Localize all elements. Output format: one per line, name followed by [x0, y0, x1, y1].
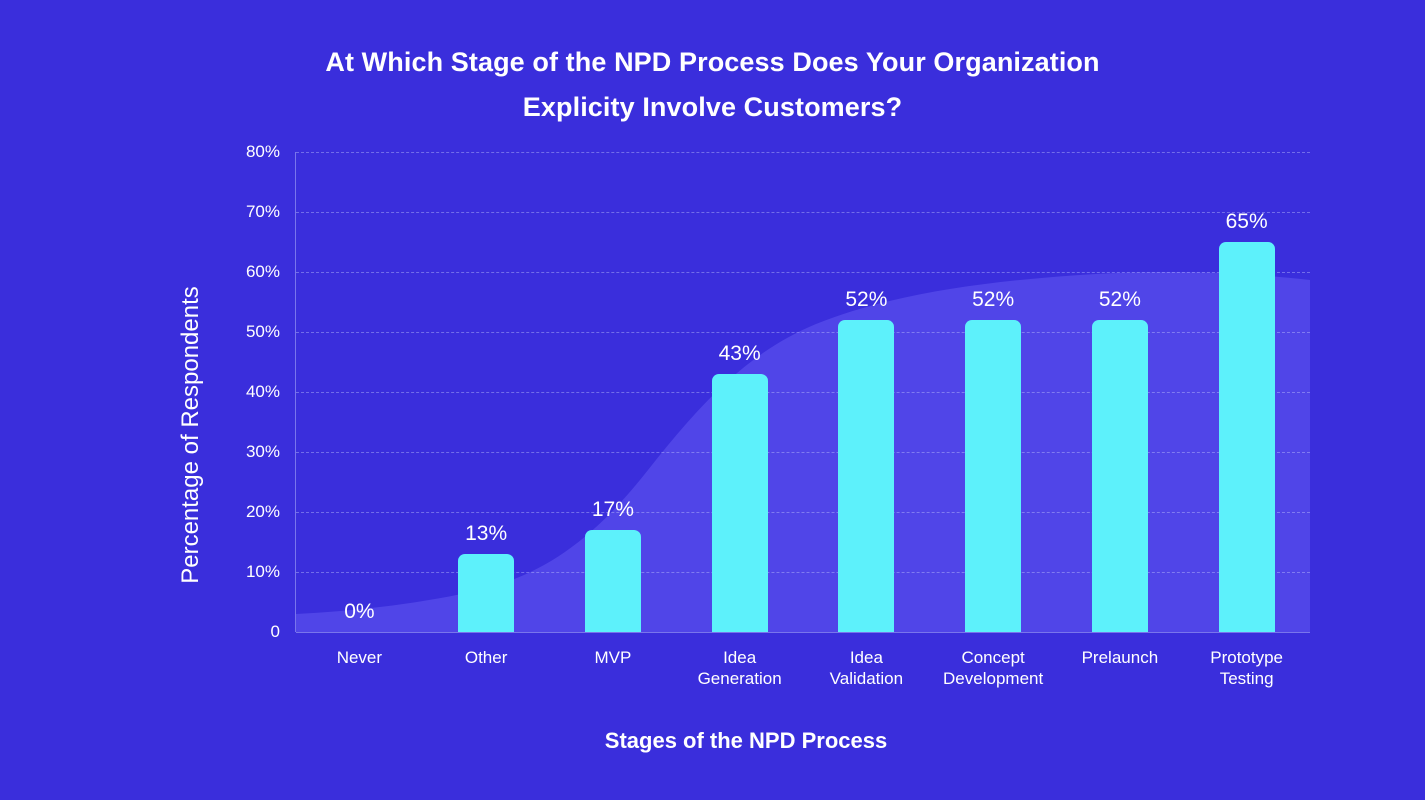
y-tick-label: 30%	[220, 442, 280, 462]
x-tick-label-line: Concept	[927, 647, 1059, 668]
bar-value-label: 13%	[423, 522, 550, 546]
bar-value-label: 65%	[1183, 210, 1310, 234]
x-tick-label-line: Other	[420, 647, 552, 668]
plot-area: 0%Never13%Other17%MVP43%IdeaGeneration52…	[296, 152, 1310, 632]
x-tick-label-line: Idea	[800, 647, 932, 668]
bar-value-label: 52%	[803, 288, 930, 312]
x-tick-label-line: Validation	[800, 668, 932, 689]
bar-slot[interactable]: 13%Other	[423, 152, 550, 632]
x-axis-title: Stages of the NPD Process	[470, 728, 1022, 754]
bar[interactable]	[458, 554, 514, 632]
bar-value-label: 17%	[550, 498, 677, 522]
x-tick-label: IdeaGeneration	[674, 647, 806, 689]
bar-value-label: 43%	[676, 342, 803, 366]
bar[interactable]	[712, 374, 768, 632]
y-tick-label: 70%	[220, 202, 280, 222]
chart-container: At Which Stage of the NPD Process Does Y…	[0, 0, 1425, 800]
bar[interactable]	[1092, 320, 1148, 632]
bar-slot[interactable]: 52%ConceptDevelopment	[930, 152, 1057, 632]
x-tick-label: PrototypeTesting	[1181, 647, 1313, 689]
bar[interactable]	[965, 320, 1021, 632]
x-tick-label-line: Generation	[674, 668, 806, 689]
bar-slot[interactable]: 52%IdeaValidation	[803, 152, 930, 632]
x-tick-label: Never	[293, 647, 425, 668]
bar[interactable]	[585, 530, 641, 632]
bar-slot[interactable]: 43%IdeaGeneration	[676, 152, 803, 632]
bar-slot[interactable]: 52%Prelaunch	[1057, 152, 1184, 632]
y-tick-label: 60%	[220, 262, 280, 282]
bar[interactable]	[1219, 242, 1275, 632]
x-tick-label-line: MVP	[547, 647, 679, 668]
bar-slot[interactable]: 65%PrototypeTesting	[1183, 152, 1310, 632]
x-tick-label-line: Prototype	[1181, 647, 1313, 668]
bar-slot[interactable]: 0%Never	[296, 152, 423, 632]
chart-title-line-2: Explicity Involve Customers?	[0, 85, 1425, 130]
chart-title-line-1: At Which Stage of the NPD Process Does Y…	[0, 40, 1425, 85]
y-tick-label: 40%	[220, 382, 280, 402]
bar-slot[interactable]: 17%MVP	[550, 152, 677, 632]
x-tick-label-line: Prelaunch	[1054, 647, 1186, 668]
chart-title: At Which Stage of the NPD Process Does Y…	[0, 40, 1425, 130]
x-tick-label-line: Development	[927, 668, 1059, 689]
y-axis-title: Percentage of Respondents	[171, 225, 211, 645]
x-tick-label-line: Testing	[1181, 668, 1313, 689]
bar-value-label: 0%	[296, 600, 423, 624]
bar[interactable]	[838, 320, 894, 632]
y-tick-label: 50%	[220, 322, 280, 342]
bar-value-label: 52%	[930, 288, 1057, 312]
x-tick-label-line: Idea	[674, 647, 806, 668]
x-tick-label-line: Never	[293, 647, 425, 668]
x-tick-label: Other	[420, 647, 552, 668]
y-tick-label: 80%	[220, 142, 280, 162]
bar-value-label: 52%	[1057, 288, 1184, 312]
x-tick-label: IdeaValidation	[800, 647, 932, 689]
x-tick-label: MVP	[547, 647, 679, 668]
x-axis-line	[296, 632, 1310, 633]
y-tick-label: 0	[220, 622, 280, 642]
x-tick-label: Prelaunch	[1054, 647, 1186, 668]
y-tick-label: 10%	[220, 562, 280, 582]
x-tick-label: ConceptDevelopment	[927, 647, 1059, 689]
y-tick-label: 20%	[220, 502, 280, 522]
